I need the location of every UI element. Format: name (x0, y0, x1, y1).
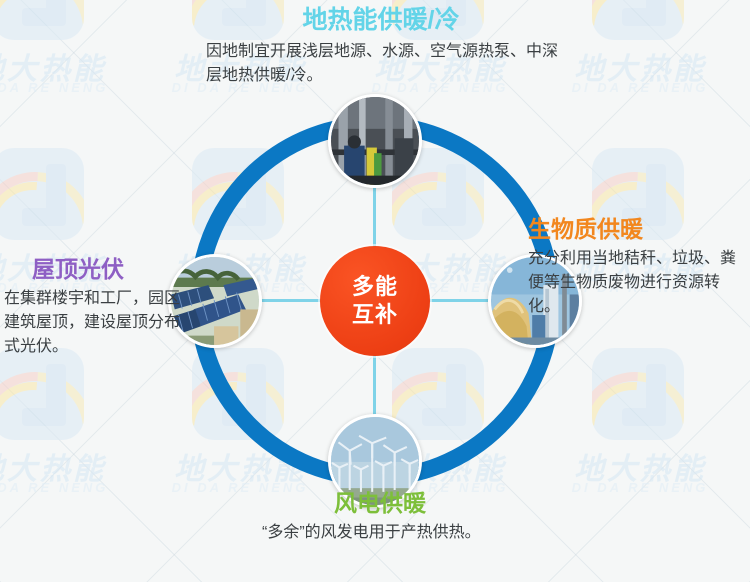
rainbow-square-logo (0, 148, 84, 240)
watermark-brand-en: DI DA RE NENG (540, 80, 740, 95)
watermark-tile: 地大热能 DI DA RE NENG (540, 0, 740, 140)
callout-body-wind: “多余”的风发电用于产热供热。 (230, 521, 530, 545)
watermark-brand-cn: 地大热能 (540, 444, 740, 488)
center-hub-label-line1: 多能 (352, 273, 398, 301)
callout-biomass: 生物质供暖 充分利用当地秸秆、垃圾、粪便等生物质废物进行资源转化。 (528, 216, 750, 319)
callout-title-biomass: 生物质供暖 (528, 216, 750, 242)
callout-solar: 屋顶光伏 在集群楼宇和工厂，园区建筑屋顶，建设屋顶分布式光伏。 (4, 256, 190, 359)
rainbow-square-logo (592, 0, 684, 40)
callout-title-geothermal: 地热能供暖/冷 (196, 6, 566, 35)
watermark-tile: 地大热能 DI DA RE NENG (0, 340, 140, 540)
infographic-canvas: 地大热能 DI DA RE NENG 地大热能 DI DA RE NENG 地大… (0, 0, 750, 582)
watermark-tile: 地大热能 DI DA RE NENG (0, 0, 140, 140)
callout-title-wind: 风电供暖 (230, 490, 530, 516)
rainbow-square-logo (0, 348, 84, 440)
callout-title-solar: 屋顶光伏 (4, 256, 190, 282)
geothermal-plant-photo[interactable] (328, 94, 422, 188)
callout-body-biomass: 充分利用当地秸秆、垃圾、粪便等生物质废物进行资源转化。 (528, 247, 750, 319)
watermark-brand-en: DI DA RE NENG (0, 480, 140, 495)
watermark-brand-en: DI DA RE NENG (540, 480, 740, 495)
radial-diagram: 多能 互补 (190, 116, 560, 486)
callout-body-geothermal: 因地制宜开展浅层地源、水源、空气源热泵、中深层地热供暖/冷。 (196, 40, 566, 88)
watermark-brand-cn: 地大热能 (540, 44, 740, 88)
rainbow-square-logo (592, 348, 684, 440)
callout-wind: 风电供暖 “多余”的风发电用于产热供热。 (230, 490, 530, 545)
watermark-brand-cn: 地大热能 (0, 44, 140, 88)
watermark-tile: 地大热能 DI DA RE NENG (540, 340, 740, 540)
callout-body-solar: 在集群楼宇和工厂，园区建筑屋顶，建设屋顶分布式光伏。 (4, 287, 190, 359)
watermark-brand-cn: 地大热能 (0, 444, 140, 488)
center-hub-label-line2: 互补 (352, 301, 398, 329)
rainbow-square-logo (0, 0, 84, 40)
callout-geothermal: 地热能供暖/冷 因地制宜开展浅层地源、水源、空气源热泵、中深层地热供暖/冷。 (196, 6, 566, 88)
center-hub[interactable]: 多能 互补 (320, 246, 430, 356)
watermark-brand-en: DI DA RE NENG (0, 80, 140, 95)
